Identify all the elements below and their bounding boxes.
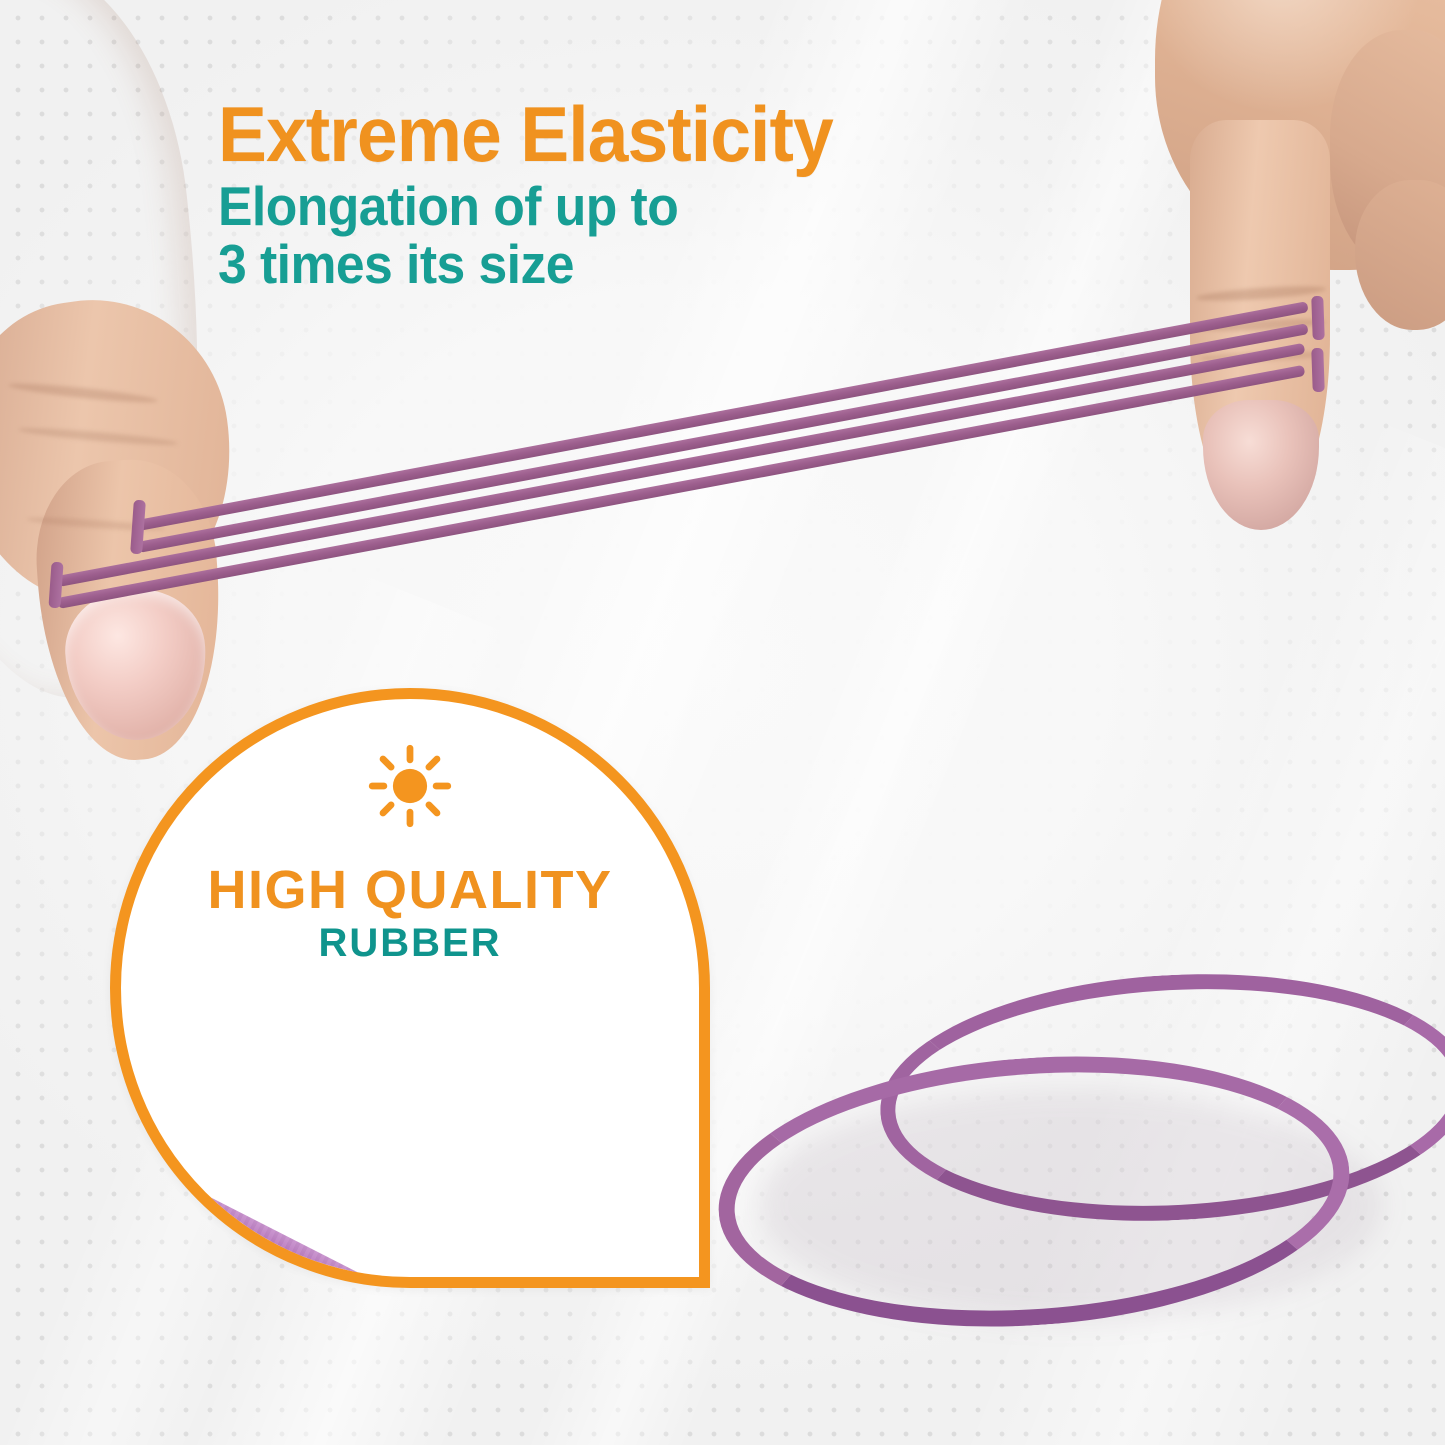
high-quality-badge: HIGH QUALITY RUBBER: [110, 688, 710, 1288]
sun-icon: [365, 741, 455, 831]
badge-subtitle: RUBBER: [121, 921, 699, 966]
band-wrap-right-finger: [1311, 348, 1325, 392]
badge-title: HIGH QUALITY: [121, 859, 699, 921]
headline-block: Extreme Elasticity Elongation of up to 3…: [218, 96, 1118, 293]
page-subtitle: Elongation of up to 3 times its size: [218, 178, 1064, 292]
product-feature-image: Extreme Elasticity Elongation of up to 3…: [0, 0, 1445, 1445]
badge-rubber-strip: [110, 1076, 710, 1288]
subtitle-line-1: Elongation of up to: [218, 175, 678, 237]
subtitle-line-2: 3 times its size: [218, 236, 1064, 293]
badge-inner: HIGH QUALITY RUBBER: [121, 699, 699, 1277]
page-title: Extreme Elasticity: [218, 96, 1064, 172]
band-wrap-right-finger: [1311, 296, 1325, 340]
